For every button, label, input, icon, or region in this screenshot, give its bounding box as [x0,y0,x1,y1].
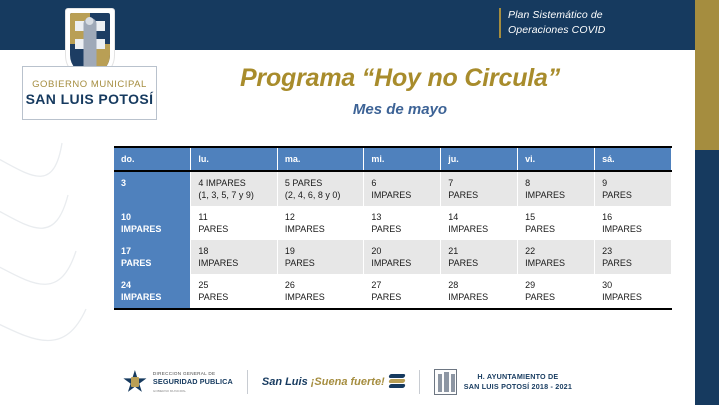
right-edge-navy-bar [695,150,719,405]
footer-logos: DIRECCION GENERAL DE SEGURIDAD PUBLICA G… [0,365,695,399]
crest-bar-4 [96,39,105,49]
calendar-cell-line: PARES [602,257,671,269]
tricolor-ribbon-icon [389,373,405,391]
plan-banner-text: Plan Sistemático de Operaciones COVID [499,8,605,38]
calendar-day-cell: 6IMPARES [364,171,441,206]
calendar-cell-line: IMPARES [371,189,440,201]
calendar-cell-line: 7 [448,177,517,189]
calendar-cell-line: 21 [448,245,517,257]
calendar-cell-line: PARES [448,189,517,201]
calendar-cell-line: 12 [285,211,364,223]
calendar-cell-line: 6 [371,177,440,189]
calendar-cell-line: 30 [602,279,671,291]
calendar-day-cell: 18IMPARES [191,240,278,274]
footer-divider-2 [419,370,420,394]
footer-divider-1 [247,370,248,394]
calendar-day-cell: 24IMPARES [114,274,191,309]
calendar-column-header-5: vi. [518,147,595,171]
calendar-cell-line: 5 PARES [285,177,364,189]
calendar-cell-line: IMPARES [448,223,517,235]
calendar-cell-line: PARES [371,223,440,235]
calendar-day-cell: 14IMPARES [441,206,518,240]
calendar-head: do.lu.ma.mi.ju.vi.sá. [114,147,672,171]
calendar-cell-line: 19 [285,245,364,257]
calendar-day-cell: 10IMPARES [114,206,191,240]
calendar-body: 34 IMPARES(1, 3, 5, 7 y 9)5 PARES(2, 4, … [114,171,672,309]
calendar-cell-line: 29 [525,279,594,291]
calendar-cell-line: IMPARES [285,223,364,235]
calendar-day-cell: 25PARES [191,274,278,309]
calendar-day-cell: 7PARES [441,171,518,206]
seal-bar-2 [444,372,449,392]
calendar-day-cell: 13PARES [364,206,441,240]
san-luis-slogan-logo: San Luis ¡Suena fuerte! [262,373,405,391]
logo-text-box: GOBIERNO MUNICIPAL SAN LUIS POTOSÍ [22,66,157,120]
ayuntamiento-seal-icon [434,369,457,395]
calendar-cell-line: 26 [285,279,364,291]
calendar-cell-line: IMPARES [448,291,517,303]
ribbon-stripe-2 [388,379,405,383]
calendar-cell-line: 3 [121,177,190,189]
calendar-cell-line: 17 [121,245,190,257]
star-core [131,377,139,387]
calendar-column-header-2: ma. [277,147,364,171]
seguridad-text: DIRECCION GENERAL DE SEGURIDAD PUBLICA G… [153,370,233,395]
calendar-cell-line: 23 [602,245,671,257]
calendar-cell-line: IMPARES [121,223,190,235]
calendar-cell-line: 10 [121,211,190,223]
calendar-day-cell: 26IMPARES [277,274,364,309]
slogan-dark-part: San Luis [262,376,308,388]
calendar-day-cell: 11PARES [191,206,278,240]
hoy-no-circula-calendar: do.lu.ma.mi.ju.vi.sá. 34 IMPARES(1, 3, 5… [114,146,672,310]
calendar-cell-line: PARES [198,223,277,235]
calendar-cell-line: IMPARES [285,291,364,303]
calendar-day-cell: 15PARES [518,206,595,240]
calendar-day-cell: 5 PARES(2, 4, 6, 8 y 0) [277,171,364,206]
page-title: Programa “Hoy no Circula” [180,64,620,93]
calendar-day-cell: 16IMPARES [595,206,672,240]
calendar-week-row: 17PARES18IMPARES19PARES20IMPARES21PARES2… [114,240,672,274]
logo-line-2: SAN LUIS POTOSÍ [26,91,154,107]
calendar-cell-line: IMPARES [602,223,671,235]
slogan-text: San Luis ¡Suena fuerte! [262,376,385,388]
calendar-cell-line: IMPARES [525,189,594,201]
calendar-cell-line: 4 IMPARES [198,177,277,189]
calendar-cell-line: 13 [371,211,440,223]
banner-line-1: Plan Sistemático de [508,8,605,23]
calendar-cell-line: IMPARES [525,257,594,269]
seal-bar-1 [438,374,442,392]
calendar-column-header-6: sá. [595,147,672,171]
calendar-cell-line: PARES [371,291,440,303]
calendar-day-cell: 29PARES [518,274,595,309]
calendar-week-row: 24IMPARES25PARES26IMPARES27PARES28IMPARE… [114,274,672,309]
calendar-cell-line: PARES [198,291,277,303]
calendar-cell-line: 24 [121,279,190,291]
calendar-column-header-0: do. [114,147,191,171]
calendar-cell-line: PARES [121,257,190,269]
calendar-cell-line: PARES [285,257,364,269]
calendar-column-header-1: lu. [191,147,278,171]
calendar-cell-line: 16 [602,211,671,223]
calendar-day-cell: 9PARES [595,171,672,206]
calendar-week-row: 10IMPARES11PARES12IMPARES13PARES14IMPARE… [114,206,672,240]
calendar-day-cell: 19PARES [277,240,364,274]
calendar-day-cell: 8IMPARES [518,171,595,206]
calendar-day-cell: 28IMPARES [441,274,518,309]
calendar-header-row: do.lu.ma.mi.ju.vi.sá. [114,147,672,171]
police-star-icon [123,370,147,394]
calendar-day-cell: 22IMPARES [518,240,595,274]
calendar-cell-line: PARES [525,291,594,303]
calendar-day-cell: 4 IMPARES(1, 3, 5, 7 y 9) [191,171,278,206]
calendar-cell-line: (1, 3, 5, 7 y 9) [198,189,277,201]
calendar-cell-line: 22 [525,245,594,257]
calendar-cell-line: (2, 4, 6, 8 y 0) [285,189,364,201]
crest-figure [83,18,96,70]
seguridad-line-2: SEGURIDAD PUBLICA [153,378,233,386]
calendar-cell-line: 28 [448,279,517,291]
seal-bar-3 [451,374,455,392]
government-logo: GOBIERNO MUNICIPAL SAN LUIS POTOSÍ [22,8,157,120]
banner-line-2: Operaciones COVID [508,23,605,38]
calendar-cell-line: PARES [602,189,671,201]
calendar-column-header-4: ju. [441,147,518,171]
calendar-cell-line: 8 [525,177,594,189]
seguridad-publica-logo: DIRECCION GENERAL DE SEGURIDAD PUBLICA G… [123,370,233,395]
ribbon-stripe-1 [388,374,405,378]
ayuntamiento-logo: H. AYUNTAMIENTO DE SAN LUIS POTOSÍ 2018 … [434,369,572,395]
crest-figure-head [86,17,94,25]
ribbon-stripe-3 [388,384,405,388]
calendar-cell-line: 15 [525,211,594,223]
logo-line-1: GOBIERNO MUNICIPAL [32,79,147,90]
calendar-cell-line: IMPARES [198,257,277,269]
calendar-cell-line: 18 [198,245,277,257]
calendar-day-cell: 30IMPARES [595,274,672,309]
calendar-cell-line: 27 [371,279,440,291]
right-edge-gold-bar [695,0,719,150]
ayuntamiento-line-1: H. AYUNTAMIENTO DE [464,372,572,382]
slogan-gold-part: ¡Suena fuerte! [311,376,385,388]
calendar-cell-line: IMPARES [371,257,440,269]
calendar-column-header-3: mi. [364,147,441,171]
calendar-day-cell: 27PARES [364,274,441,309]
calendar-cell-line: 25 [198,279,277,291]
calendar-day-cell: 17PARES [114,240,191,274]
calendar-day-cell: 21PARES [441,240,518,274]
calendar-day-cell: 23PARES [595,240,672,274]
calendar-week-row: 34 IMPARES(1, 3, 5, 7 y 9)5 PARES(2, 4, … [114,171,672,206]
calendar-day-cell: 20IMPARES [364,240,441,274]
ayuntamiento-line-2: SAN LUIS POTOSÍ 2018 - 2021 [464,382,572,392]
calendar-cell-line: IMPARES [602,291,671,303]
seguridad-line-3: GOBIERNO MUNICIPAL [153,387,233,395]
crest-bar-3 [96,21,105,31]
page-subtitle: Mes de mayo [180,101,620,118]
calendar-cell-line: 9 [602,177,671,189]
calendar-cell-line: 11 [198,211,277,223]
calendar-day-cell: 3 [114,171,191,206]
ayuntamiento-text: H. AYUNTAMIENTO DE SAN LUIS POTOSÍ 2018 … [464,372,572,392]
calendar-cell-line: PARES [525,223,594,235]
decorative-swoosh-lines [0,135,105,365]
calendar-cell-line: 20 [371,245,440,257]
calendar-cell-line: PARES [448,257,517,269]
calendar-day-cell: 12IMPARES [277,206,364,240]
calendar-cell-line: 14 [448,211,517,223]
calendar-cell-line: IMPARES [121,291,190,303]
